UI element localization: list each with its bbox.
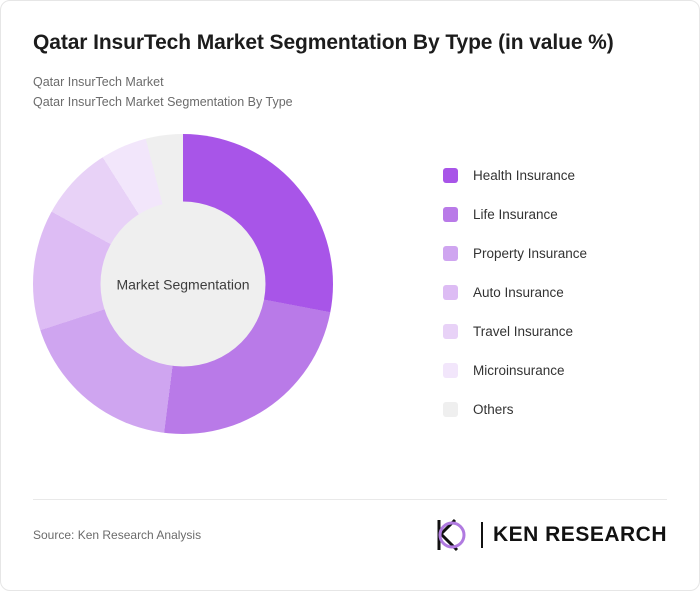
legend-swatch-icon [443, 207, 458, 222]
chart-legend: Health InsuranceLife InsuranceProperty I… [443, 156, 587, 429]
chart-card: Qatar InsurTech Market Segmentation By T… [0, 0, 700, 591]
legend-item[interactable]: Others [443, 390, 587, 429]
donut-chart: Market Segmentation [33, 134, 333, 434]
chart-footer: Source: Ken Research Analysis KEN RESEAR… [33, 499, 667, 552]
legend-item[interactable]: Life Insurance [443, 195, 587, 234]
page-title: Qatar InsurTech Market Segmentation By T… [33, 29, 633, 57]
legend-swatch-icon [443, 363, 458, 378]
legend-item[interactable]: Travel Insurance [443, 312, 587, 351]
brand-divider [481, 522, 483, 548]
ken-logo-icon [435, 518, 473, 552]
legend-label: Microinsurance [473, 363, 565, 378]
legend-label: Travel Insurance [473, 324, 573, 339]
legend-item[interactable]: Health Insurance [443, 156, 587, 195]
source-note: Source: Ken Research Analysis [33, 528, 201, 542]
legend-item[interactable]: Microinsurance [443, 351, 587, 390]
brand-logo: KEN RESEARCH [435, 518, 667, 552]
legend-item[interactable]: Auto Insurance [443, 273, 587, 312]
donut-hole: Market Segmentation [101, 202, 266, 367]
legend-swatch-icon [443, 168, 458, 183]
legend-swatch-icon [443, 402, 458, 417]
legend-item[interactable]: Property Insurance [443, 234, 587, 273]
legend-swatch-icon [443, 246, 458, 261]
chart-area: Market Segmentation Health InsuranceLife… [33, 134, 667, 434]
brand-name: KEN RESEARCH [493, 523, 667, 547]
legend-label: Health Insurance [473, 168, 575, 183]
legend-swatch-icon [443, 324, 458, 339]
legend-label: Others [473, 402, 514, 417]
legend-swatch-icon [443, 285, 458, 300]
donut-center-label: Market Segmentation [116, 276, 249, 292]
legend-label: Property Insurance [473, 246, 587, 261]
legend-label: Life Insurance [473, 207, 558, 222]
subtitle-market: Qatar InsurTech Market [33, 73, 667, 92]
subtitle-segmentation: Qatar InsurTech Market Segmentation By T… [33, 93, 667, 112]
legend-label: Auto Insurance [473, 285, 564, 300]
